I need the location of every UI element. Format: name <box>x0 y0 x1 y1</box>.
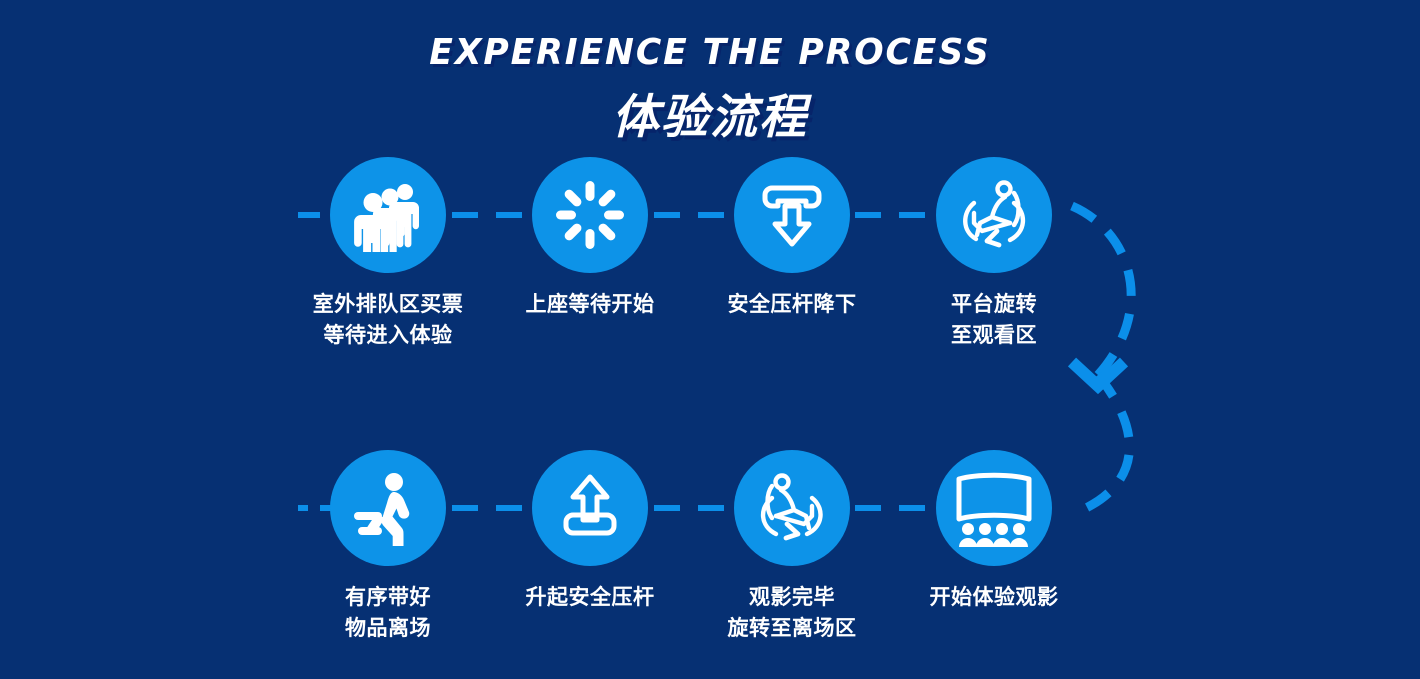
step-2-circle[interactable] <box>532 157 648 273</box>
step-7-circle[interactable] <box>532 450 648 566</box>
step-8-orderly-exit[interactable]: 有序带好 物品离场 <box>288 450 488 644</box>
step-4-label: 平台旋转 至观看区 <box>894 289 1094 351</box>
step-5-label: 开始体验观影 <box>894 582 1094 613</box>
step-8-circle[interactable] <box>330 450 446 566</box>
step-5-start-experience-viewing[interactable]: 开始体验观影 <box>894 450 1094 613</box>
safety-bar-up-icon <box>551 469 629 547</box>
step-4-circle[interactable] <box>936 157 1052 273</box>
step-3-circle[interactable] <box>734 157 850 273</box>
safety-bar-down-icon <box>753 176 831 254</box>
step-3-safety-bar-down[interactable]: 安全压杆降下 <box>692 157 892 320</box>
seat-rotate-exit-icon <box>750 466 834 550</box>
step-1-queue-buy-ticket[interactable]: 室外排队区买票 等待进入体验 <box>288 157 488 351</box>
page-title-chinese: 体验流程 <box>0 78 1420 147</box>
experience-process-infographic: EXPERIENCE THE PROCESS 体验流程 <box>0 0 1420 679</box>
step-1-circle[interactable] <box>330 157 446 273</box>
step-7-label: 升起安全压杆 <box>490 582 690 613</box>
step-4-platform-rotate-to-viewing[interactable]: 平台旋转 至观看区 <box>894 157 1094 351</box>
step-6-label: 观影完毕 旋转至离场区 <box>692 582 892 644</box>
step-6-rotate-to-exit[interactable]: 观影完毕 旋转至离场区 <box>692 450 892 644</box>
step-6-circle[interactable] <box>734 450 850 566</box>
page-title-english: EXPERIENCE THE PROCESS <box>28 32 1391 73</box>
cinema-screen-icon <box>953 469 1035 547</box>
step-5-circle[interactable] <box>936 450 1052 566</box>
seat-rotate-icon <box>952 173 1036 257</box>
step-8-label: 有序带好 物品离场 <box>288 582 488 644</box>
walking-person-icon <box>350 470 426 546</box>
step-3-label: 安全压杆降下 <box>692 289 892 320</box>
step-2-be-seated-wait[interactable]: 上座等待开始 <box>490 157 690 320</box>
step-1-label: 室外排队区买票 等待进入体验 <box>288 289 488 351</box>
queue-people-icon <box>351 178 425 252</box>
step-2-label: 上座等待开始 <box>490 289 690 320</box>
loading-spinner-icon <box>555 180 625 250</box>
step-7-safety-bar-up[interactable]: 升起安全压杆 <box>490 450 690 613</box>
